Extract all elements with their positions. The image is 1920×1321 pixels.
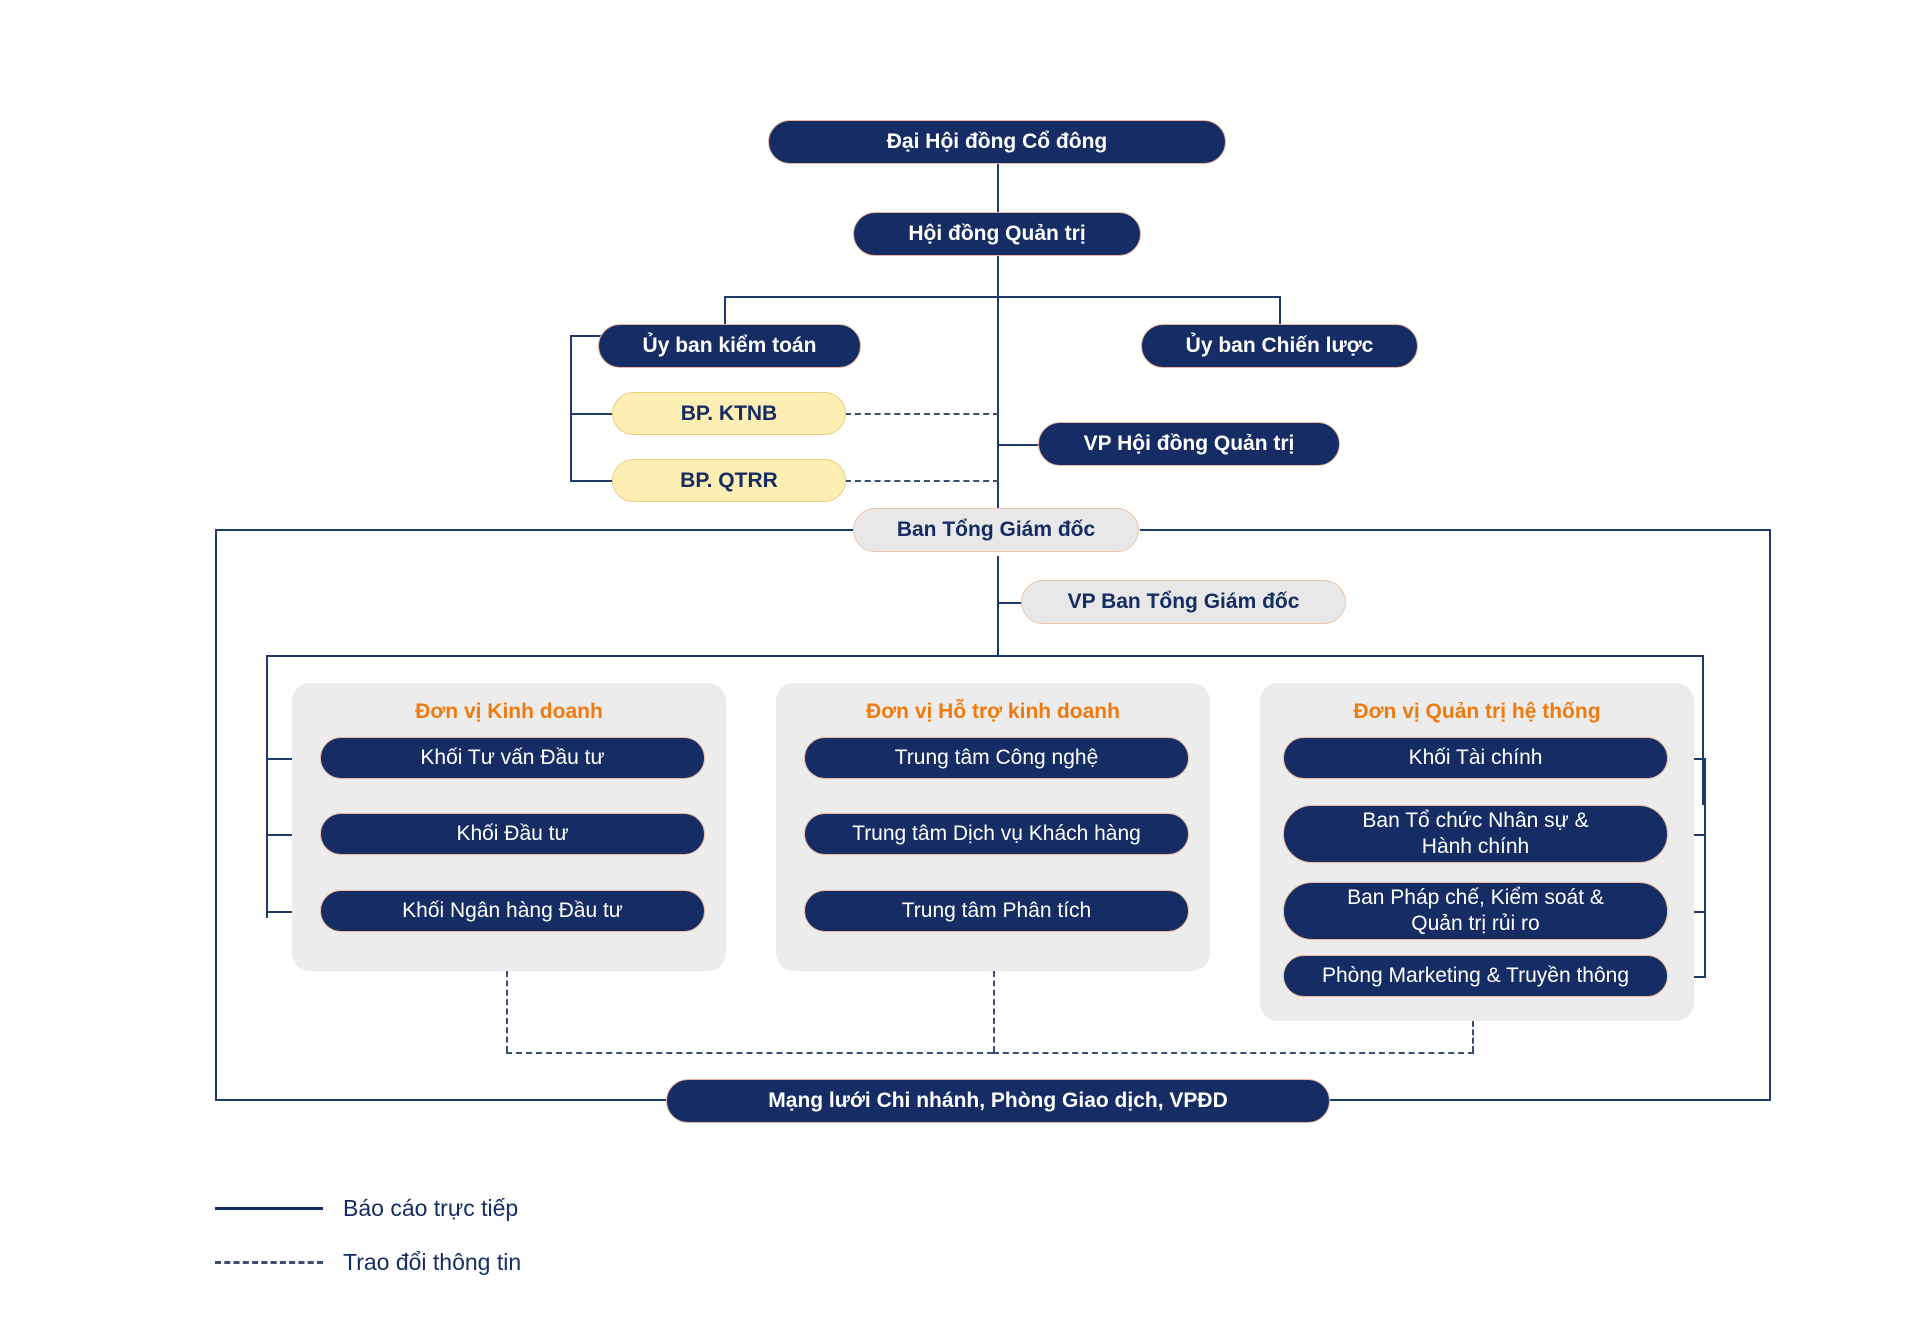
node-unit-finance[interactable]: Khối Tài chính xyxy=(1283,737,1668,779)
node-label: VP Hội đồng Quản trị xyxy=(1084,431,1295,457)
node-label: Trung tâm Phân tích xyxy=(902,898,1091,924)
node-unit-analysis-center[interactable]: Trung tâm Phân tích xyxy=(804,890,1189,932)
node-label: Trung tâm Dịch vụ Khách hàng xyxy=(852,821,1141,847)
node-audit-committee[interactable]: Ủy ban kiểm toán xyxy=(598,324,861,368)
node-label: Mạng lưới Chi nhánh, Phòng Giao dịch, VP… xyxy=(768,1088,1227,1114)
node-unit-advisory-investment[interactable]: Khối Tư vấn Đầu tư xyxy=(320,737,705,779)
node-unit-technology-center[interactable]: Trung tâm Công nghệ xyxy=(804,737,1189,779)
node-label: Phòng Marketing & Truyền thông xyxy=(1322,963,1629,989)
node-ceo-office[interactable]: VP Ban Tổng Giám đốc xyxy=(1021,580,1346,624)
dashed-qtrr-to-spine xyxy=(845,480,999,482)
node-label: Ban Pháp chế, Kiểm soát & Quản trị rủi r… xyxy=(1347,885,1604,936)
connector-frame-left-to-ceo xyxy=(215,529,855,531)
node-board-office[interactable]: VP Hội đồng Quản trị xyxy=(1038,422,1340,466)
legend-row-direct-report: Báo cáo trực tiếp xyxy=(215,1195,518,1222)
node-label: Ủy ban Chiến lược xyxy=(1186,333,1374,359)
dashed-governance-network-elbow xyxy=(993,1052,1474,1054)
group-title-business: Đơn vị Kinh doanh xyxy=(292,700,726,724)
group-title-support: Đơn vị Hỗ trợ kinh doanh xyxy=(776,700,1210,724)
connector-audit-left-rail xyxy=(570,335,572,481)
node-label: Đại Hội đồng Cổ đông xyxy=(887,129,1107,155)
node-internal-audit-dept[interactable]: BP. KTNB xyxy=(612,392,846,435)
connector-rail-to-ktnb xyxy=(570,413,615,415)
connector-business-rail xyxy=(266,758,268,918)
dashed-support-to-network xyxy=(993,971,995,1052)
legend: Báo cáo trực tiếp Trao đổi thông tin xyxy=(215,1195,735,1285)
node-label: Ủy ban kiểm toán xyxy=(643,333,817,359)
node-unit-investment-banking[interactable]: Khối Ngân hàng Đầu tư xyxy=(320,890,705,932)
node-unit-legal-control-risk[interactable]: Ban Pháp chế, Kiểm soát & Quản trị rủi r… xyxy=(1283,882,1668,940)
dashed-governance-to-network xyxy=(1472,1021,1474,1052)
connector-shareholders-to-board xyxy=(997,163,999,213)
node-label: VP Ban Tổng Giám đốc xyxy=(1068,589,1300,615)
node-label: Khối Ngân hàng Đầu tư xyxy=(402,898,623,924)
legend-label: Trao đổi thông tin xyxy=(343,1249,521,1276)
node-label: Khối Tư vấn Đầu tư xyxy=(420,745,604,771)
connector-governance-rail xyxy=(1704,758,1706,976)
node-label: Trung tâm Công nghệ xyxy=(895,745,1099,771)
legend-solid-line-icon xyxy=(215,1207,323,1210)
node-executive-board[interactable]: Ban Tổng Giám đốc xyxy=(853,508,1139,552)
node-label: BP. KTNB xyxy=(681,401,777,427)
dashed-business-network-elbow xyxy=(506,1052,993,1054)
node-risk-management-dept[interactable]: BP. QTRR xyxy=(612,459,846,502)
org-chart-canvas: Đại Hội đồng Cổ đông Hội đồng Quản trị Ủ… xyxy=(0,0,1920,1321)
legend-row-info-exchange: Trao đổi thông tin xyxy=(215,1249,521,1276)
node-shareholders-assembly[interactable]: Đại Hội đồng Cổ đông xyxy=(768,120,1226,164)
connector-board-down xyxy=(997,255,999,297)
connector-committee-bus xyxy=(724,296,1280,298)
node-unit-investment[interactable]: Khối Đầu tư xyxy=(320,813,705,855)
legend-dashed-line-icon xyxy=(215,1261,323,1264)
node-unit-hr-admin[interactable]: Ban Tổ chức Nhân sự & Hành chính xyxy=(1283,805,1668,863)
dashed-ktnb-to-spine xyxy=(845,413,999,415)
connector-spine-to-board-office xyxy=(997,444,1039,446)
node-board-of-directors[interactable]: Hội đồng Quản trị xyxy=(853,212,1141,256)
legend-label: Báo cáo trực tiếp xyxy=(343,1195,518,1222)
node-label: BP. QTRR xyxy=(680,468,778,494)
connector-frame-right-to-ceo xyxy=(1140,529,1771,531)
node-unit-customer-service-center[interactable]: Trung tâm Dịch vụ Khách hàng xyxy=(804,813,1189,855)
node-strategy-committee[interactable]: Ủy ban Chiến lược xyxy=(1141,324,1418,368)
node-unit-marketing-comms[interactable]: Phòng Marketing & Truyền thông xyxy=(1283,955,1668,997)
dashed-business-to-network xyxy=(506,971,508,1052)
node-label: Khối Đầu tư xyxy=(456,821,568,847)
node-label: Ban Tổ chức Nhân sự & Hành chính xyxy=(1362,808,1588,859)
node-branch-network[interactable]: Mạng lưới Chi nhánh, Phòng Giao dịch, VP… xyxy=(666,1079,1330,1123)
node-label: Khối Tài chính xyxy=(1409,745,1543,771)
group-title-governance: Đơn vị Quản trị hệ thống xyxy=(1260,700,1694,724)
connector-rail-to-qtrr xyxy=(570,480,615,482)
node-label: Ban Tổng Giám đốc xyxy=(897,517,1095,543)
node-label: Hội đồng Quản trị xyxy=(908,221,1085,247)
